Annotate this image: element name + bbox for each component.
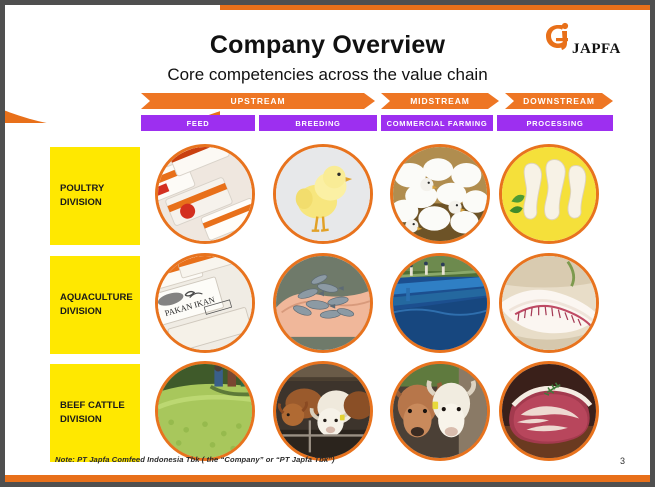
division-label-line1: AQUACULTURE [60, 292, 133, 303]
page-number: 3 [620, 456, 625, 466]
division-label-poultry: POULTRY DIVISION [50, 182, 104, 210]
photo-art [276, 147, 370, 241]
division-label-aquaculture: AQUACULTURE DIVISION [50, 291, 133, 319]
division-label-line2: DIVISION [60, 197, 102, 208]
poultry-feed-bags-photo [155, 144, 255, 244]
chevron-upstream: UPSTREAM [141, 93, 375, 109]
division-label-line2: DIVISION [60, 306, 102, 317]
chevron-downstream: DOWNSTREAM [505, 93, 613, 109]
photo-art [393, 364, 487, 458]
fish-feed-bags-photo: PAKAN IKAN [155, 253, 255, 353]
fish-fillet-photo [499, 253, 599, 353]
day-old-chick-photo [273, 144, 373, 244]
photo-art [158, 364, 252, 458]
aquaculture-ponds-photo [390, 253, 490, 353]
presentation-slide: JAPFA Company Overview Core competencies… [0, 0, 655, 487]
footnote: Note: PT Japfa Comfeed Indonesia Tbk ( t… [55, 455, 335, 464]
photo-art [276, 256, 370, 350]
photo-art [502, 147, 596, 241]
division-row-aquaculture: AQUACULTURE DIVISION [5, 253, 650, 358]
broiler-chickens-farm-photo [390, 144, 490, 244]
division-label-beef-cattle: BEEF CATTLE DIVISION [50, 399, 125, 427]
division-label-box-poultry: POULTRY DIVISION [50, 147, 140, 245]
photo-art [502, 256, 596, 350]
photo-art [502, 364, 596, 458]
fish-fry-in-hands-photo [273, 253, 373, 353]
cattle-closeup-photo [390, 361, 490, 461]
stage-commercial-farming: COMMERCIAL FARMING [381, 115, 493, 131]
cattle-feedlot-photo [273, 361, 373, 461]
division-row-poultry: POULTRY DIVISION [5, 144, 650, 249]
value-chain-band: UPSTREAM MIDSTREAM DOWNSTREAM [141, 93, 613, 109]
top-accent-bar [155, 5, 650, 10]
beef-steak-photo [499, 361, 599, 461]
stage-band: FEED BREEDING COMMERCIAL FARMING PROCESS… [141, 115, 613, 131]
chevron-midstream: MIDSTREAM [381, 93, 499, 109]
photo-art: PAKAN IKAN [158, 256, 252, 350]
stage-breeding: BREEDING [259, 115, 377, 131]
photo-art [276, 364, 370, 458]
division-label-line2: DIVISION [60, 414, 102, 425]
bottom-accent-bar [5, 475, 650, 482]
chicken-drumsticks-photo [499, 144, 599, 244]
division-label-line1: POULTRY [60, 183, 104, 194]
division-row-beef-cattle: BEEF CATTLE DIVISION [5, 361, 650, 466]
cattle-silage-feed-photo [155, 361, 255, 461]
stage-feed: FEED [141, 115, 255, 131]
page-title: Company Overview [5, 31, 650, 60]
stage-processing: PROCESSING [497, 115, 613, 131]
photo-art [158, 147, 252, 241]
photo-art [393, 256, 487, 350]
division-label-box-beef-cattle: BEEF CATTLE DIVISION [50, 364, 140, 462]
photo-art [393, 147, 487, 241]
page-subtitle: Core competencies across the value chain [5, 65, 650, 85]
division-label-box-aquaculture: AQUACULTURE DIVISION [50, 256, 140, 354]
division-label-line1: BEEF CATTLE [60, 400, 125, 411]
